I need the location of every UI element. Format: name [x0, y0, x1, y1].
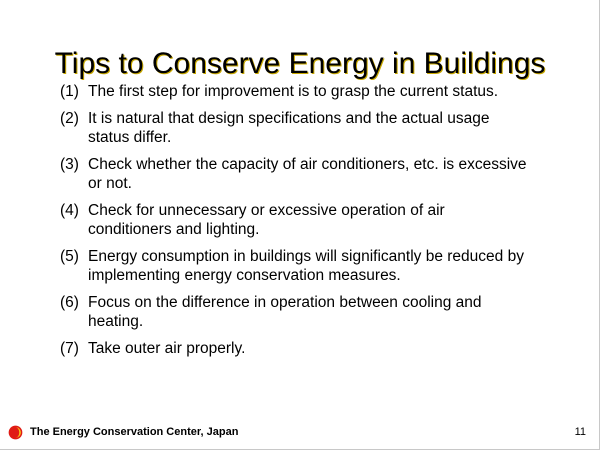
list-item-marker: (1) [60, 82, 88, 101]
list-item-marker: (4) [60, 201, 88, 220]
eccj-logo-icon [8, 425, 23, 440]
list-item-marker: (5) [60, 247, 88, 266]
list-item-text: Focus on the difference in operation bet… [88, 293, 532, 331]
list-item-text: The first step for improvement is to gra… [88, 82, 532, 101]
list-item-marker: (2) [60, 109, 88, 128]
organization-name: The Energy Conservation Center, Japan [30, 426, 238, 439]
slide-canvas: Tips to Conserve Energy in Buildings (1)… [0, 0, 600, 450]
list-item-text: Check whether the capacity of air condit… [88, 155, 532, 193]
list-item: (2) It is natural that design specificat… [60, 109, 532, 147]
list-item: (1) The first step for improvement is to… [60, 82, 532, 101]
list-item-marker: (6) [60, 293, 88, 312]
page-title: Tips to Conserve Energy in Buildings [0, 46, 600, 82]
page-number: 11 [575, 426, 586, 439]
footer: The Energy Conservation Center, Japan [8, 425, 238, 440]
list-item-marker: (7) [60, 339, 88, 358]
list-item: (7) Take outer air properly. [60, 339, 532, 358]
list-item-text: Energy consumption in buildings will sig… [88, 247, 532, 285]
list-item-text: Take outer air properly. [88, 339, 532, 358]
list-item: (5) Energy consumption in buildings will… [60, 247, 532, 285]
list-item-marker: (3) [60, 155, 88, 174]
list-item: (4) Check for unnecessary or excessive o… [60, 201, 532, 239]
list-item-text: It is natural that design specifications… [88, 109, 532, 147]
list-item: (6) Focus on the difference in operation… [60, 293, 532, 331]
list-item: (3) Check whether the capacity of air co… [60, 155, 532, 193]
tips-list: (1) The first step for improvement is to… [60, 82, 532, 358]
list-item-text: Check for unnecessary or excessive opera… [88, 201, 532, 239]
